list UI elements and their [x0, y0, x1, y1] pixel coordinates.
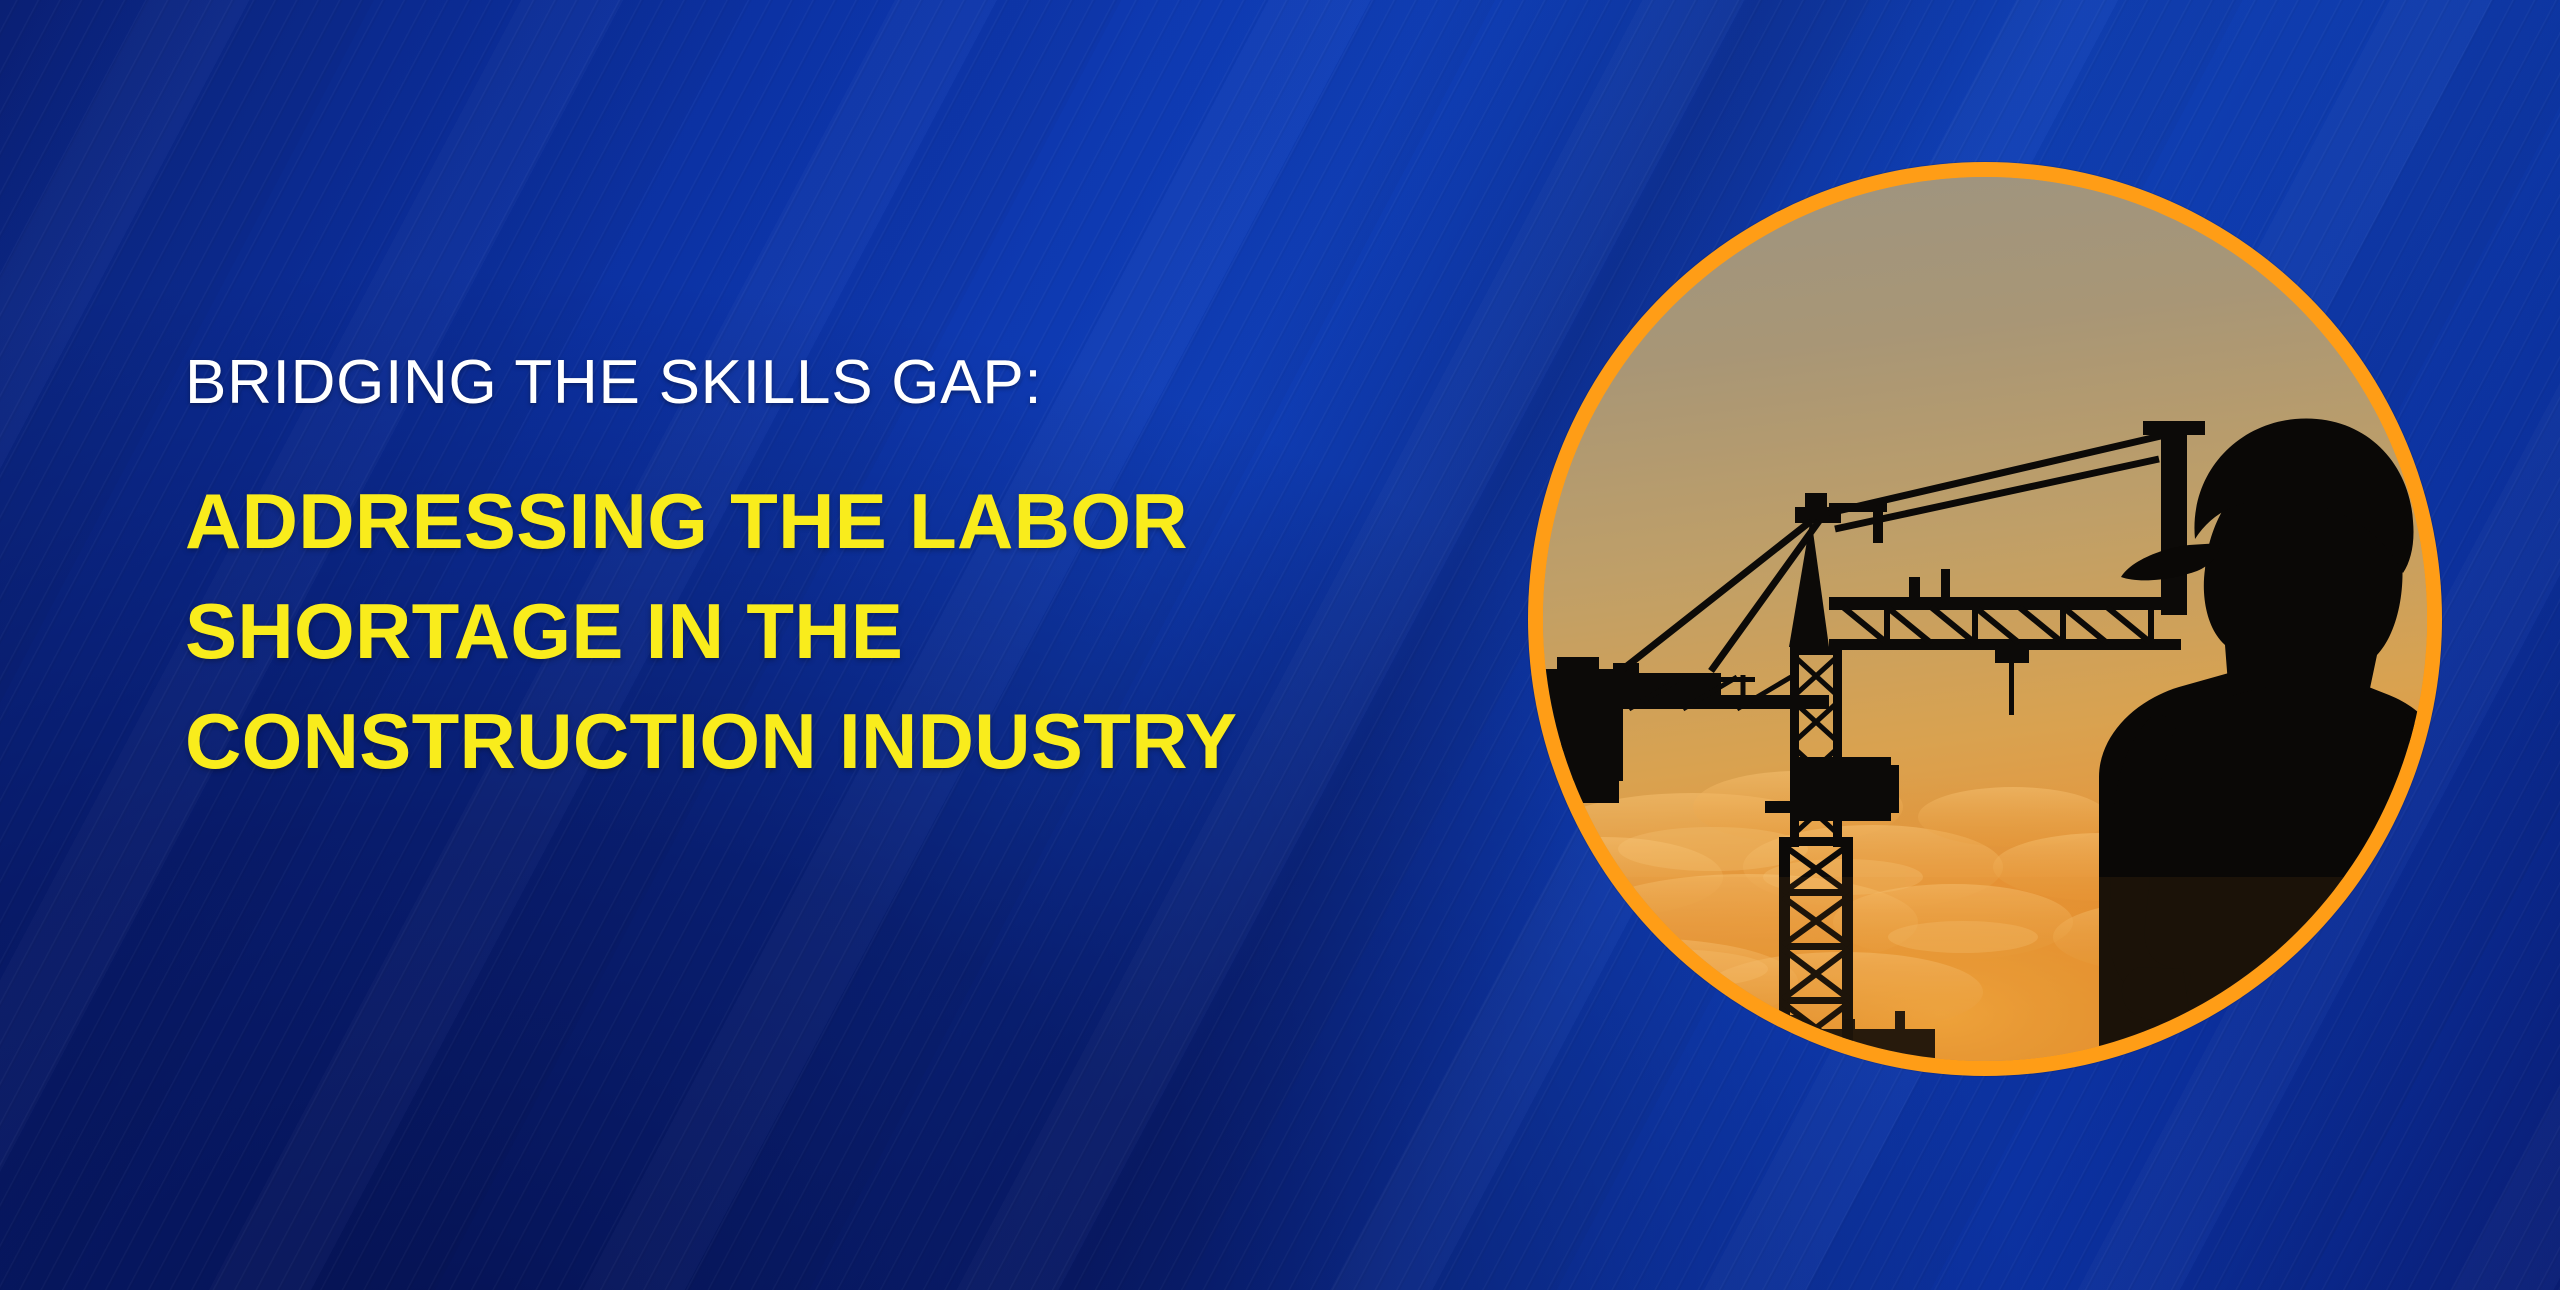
construction-worker-sunset-illustration — [1543, 177, 2427, 1061]
banner-eyebrow: BRIDGING THE SKILLS GAP: — [185, 352, 1525, 414]
promo-banner: BRIDGING THE SKILLS GAP: ADDRESSING THE … — [0, 0, 2560, 1290]
headline-line-1: ADDRESSING THE LABOR — [185, 466, 1525, 576]
headline-line-2: SHORTAGE IN THE — [185, 576, 1525, 686]
headline-line-3: CONSTRUCTION INDUSTRY — [185, 686, 1525, 796]
photo-ring-orange — [1528, 162, 2442, 1076]
banner-headline: ADDRESSING THE LABOR SHORTAGE IN THE CON… — [185, 466, 1525, 796]
circular-photo — [1543, 177, 2427, 1061]
banner-text-block: BRIDGING THE SKILLS GAP: ADDRESSING THE … — [185, 352, 1525, 796]
